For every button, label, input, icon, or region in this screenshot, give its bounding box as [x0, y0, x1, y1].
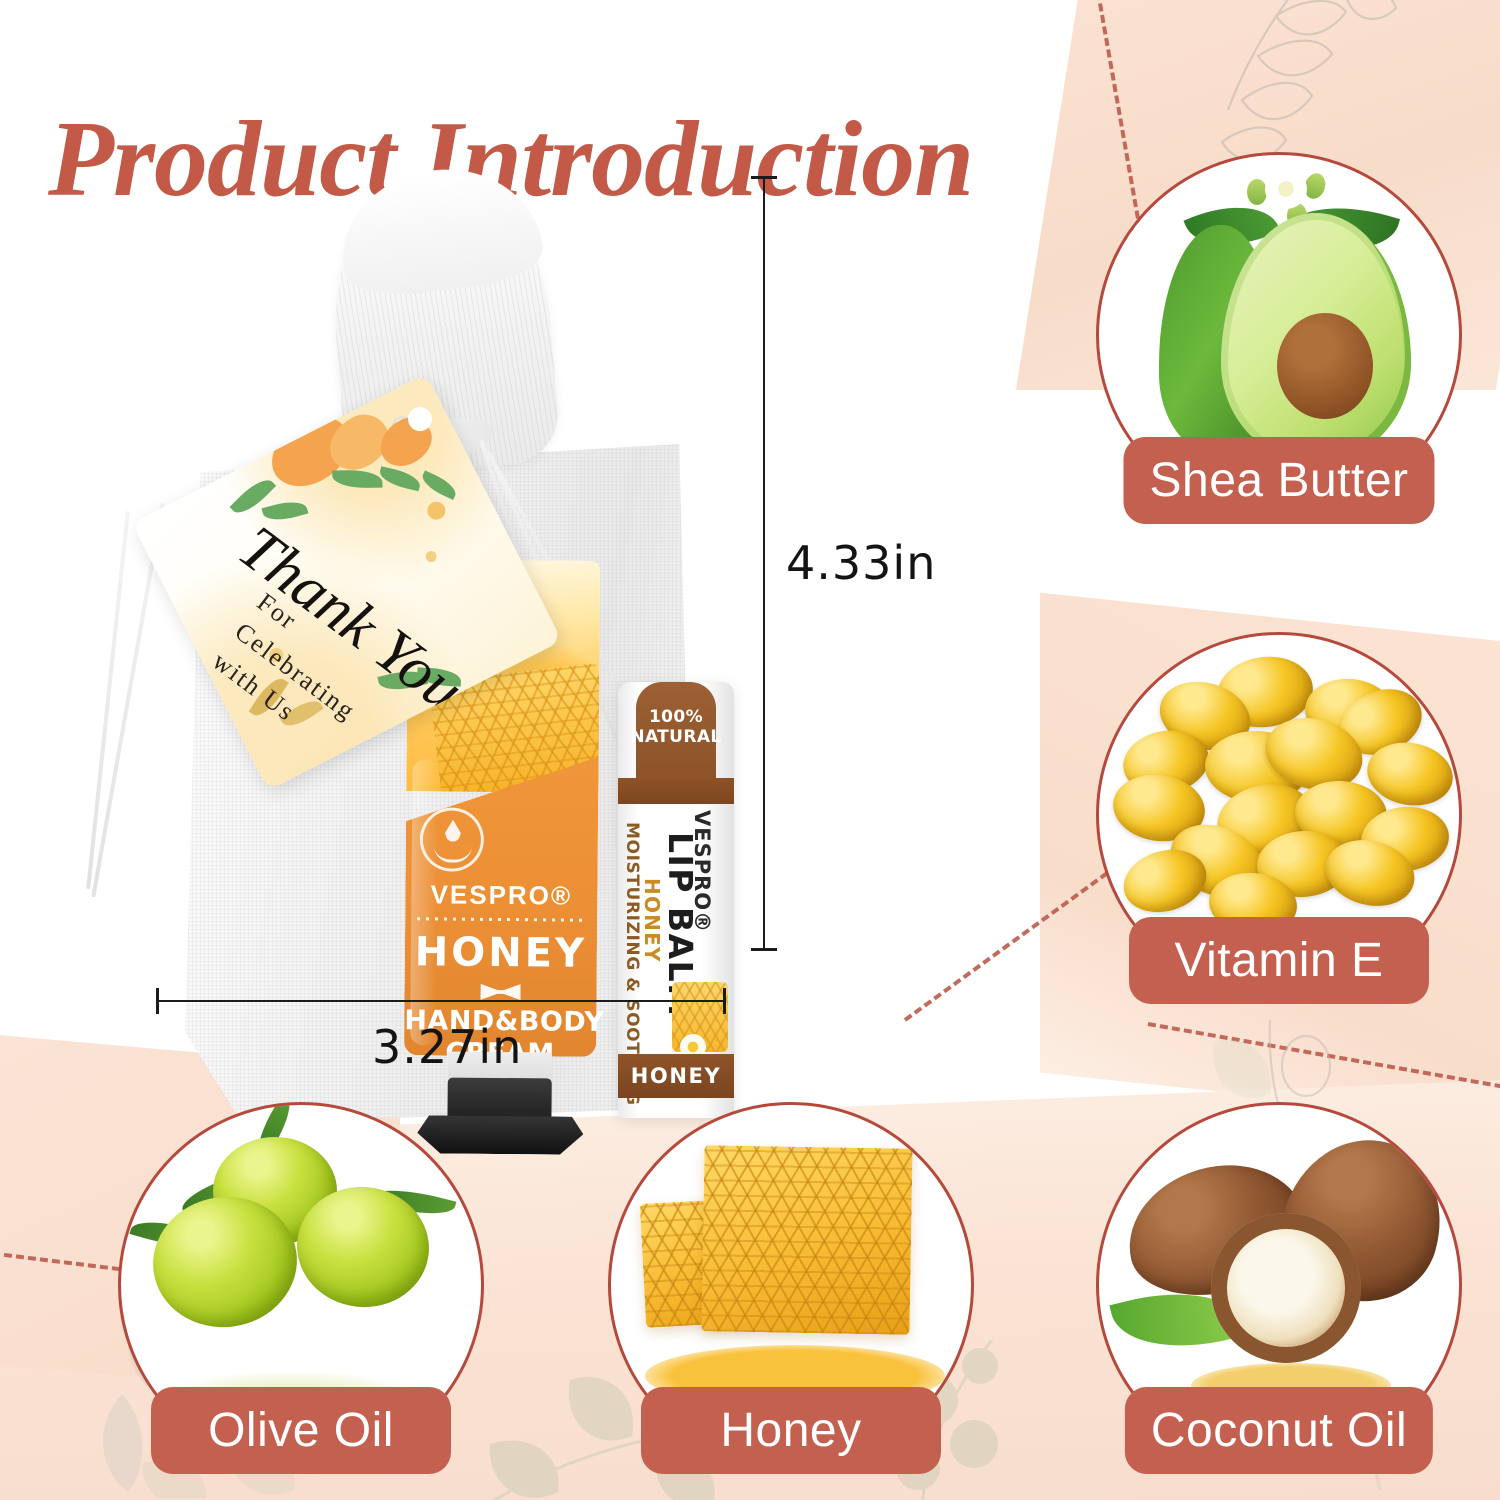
- ingredient-label-shea-butter: Shea Butter: [1124, 437, 1435, 524]
- avocado-pit-icon: [1277, 313, 1373, 419]
- nut-open-icon: [1211, 1213, 1361, 1363]
- height-dimension-label: 4.33in: [786, 536, 936, 590]
- ingredient-label-coconut-oil: Coconut Oil: [1125, 1387, 1433, 1474]
- natural-word: NATURAL: [630, 727, 721, 747]
- lip-balm-stick: 100% NATURAL VESPRO® LIP BALM HONEY MOIS…: [618, 682, 734, 1118]
- width-dimension-label: 3.27in: [372, 1020, 522, 1074]
- ingredient-vitamin-e[interactable]: Vitamin E: [1096, 632, 1462, 998]
- lip-balm-bottom-band: HONEY: [618, 1054, 734, 1098]
- moisture-drop-icon: [420, 807, 485, 872]
- avocado-flower-icon: [1265, 169, 1307, 209]
- natural-percent: 100%: [649, 707, 703, 727]
- dashed-divider-right: [904, 871, 1109, 1021]
- width-dimension-line: [156, 1000, 726, 1002]
- ingredient-label-honey: Honey: [641, 1387, 941, 1474]
- lip-balm-natural-claim: 100% NATURAL: [618, 708, 734, 747]
- product-introduction-infographic: Product Introduction VESPRO® HONEY: [0, 0, 1500, 1500]
- height-dimension-line: [763, 176, 765, 951]
- avocado-bud-icon: [1247, 179, 1267, 205]
- ingredient-coconut-oil[interactable]: Coconut Oil: [1096, 1102, 1462, 1468]
- lip-balm-band-label: HONEY: [618, 1054, 734, 1098]
- lip-balm-flavor: HONEY: [640, 878, 664, 963]
- lip-balm-cap-band: [618, 778, 734, 804]
- tube-flavor: HONEY: [405, 929, 597, 977]
- dashed-divider-right-2: [1148, 1022, 1500, 1088]
- gift-bag-group: VESPRO® HONEY HAND&BODY CREAM 100% NATUR…: [150, 170, 790, 970]
- ingredient-label-vitamin-e: Vitamin E: [1129, 917, 1429, 1004]
- drawstring-ribbon: [86, 511, 130, 889]
- ingredient-shea-butter[interactable]: Shea Butter: [1096, 152, 1462, 518]
- ingredient-label-olive-oil: Olive Oil: [151, 1387, 451, 1474]
- ingredient-olive-oil[interactable]: Olive Oil: [118, 1102, 484, 1468]
- honeycomb-icon: [701, 1145, 912, 1335]
- tube-brand: VESPRO®: [405, 879, 597, 912]
- ingredient-honey[interactable]: Honey: [608, 1102, 974, 1468]
